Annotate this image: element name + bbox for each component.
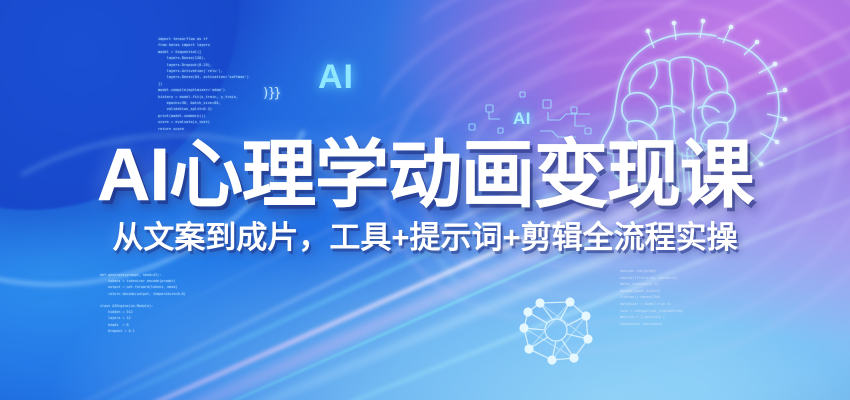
vignette-overlay <box>0 0 850 400</box>
course-promo-banner: import tensorflow as tf from keras impor… <box>0 0 850 400</box>
